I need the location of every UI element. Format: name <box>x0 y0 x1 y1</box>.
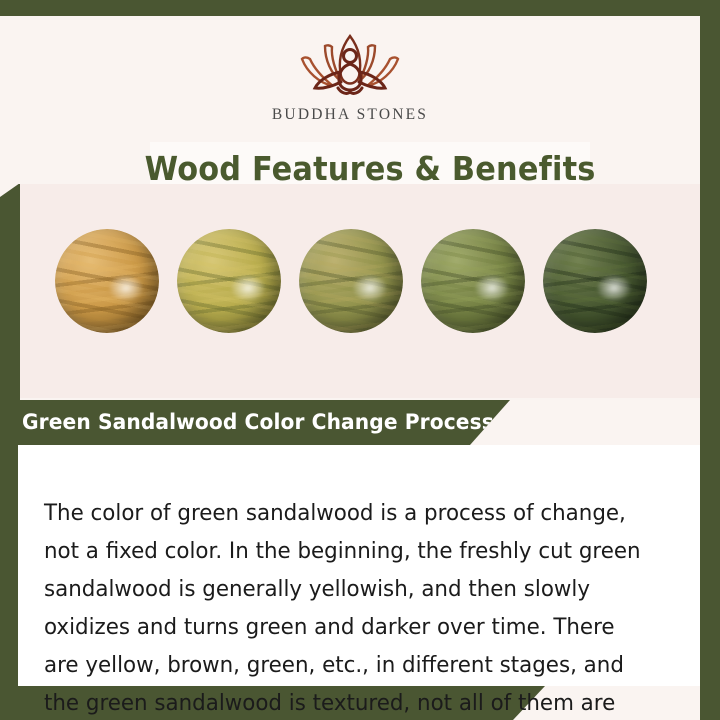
header-section: BUDDHA STONES Wood Features & Benefits <box>0 16 700 184</box>
bead-shading <box>55 229 159 333</box>
body-text-panel: The color of green sandalwood is a proce… <box>18 445 700 686</box>
lotus-meditation-icon <box>275 26 425 104</box>
bead-shading <box>421 229 525 333</box>
bead-stage-5 <box>543 229 647 333</box>
bead-stage-1 <box>55 229 159 333</box>
poster-root: BUDDHA STONES Wood Features & Benefits G… <box>0 0 720 720</box>
bead-stage-3 <box>299 229 403 333</box>
section-banner-title: Green Sandalwood Color Change Process <box>22 410 494 435</box>
bead-shading <box>299 229 403 333</box>
section-banner: Green Sandalwood Color Change Process <box>0 400 560 445</box>
page-title: Wood Features & Benefits <box>145 149 596 188</box>
frame-right-band <box>700 0 720 720</box>
bead-shading <box>177 229 281 333</box>
body-paragraph: The color of green sandalwood is a proce… <box>44 494 652 720</box>
bead-row <box>20 184 700 398</box>
bead-showcase <box>20 184 700 398</box>
brand-logo: BUDDHA STONES <box>0 26 700 124</box>
bead-stage-4 <box>421 229 525 333</box>
brand-name: BUDDHA STONES <box>0 106 700 124</box>
bead-shading <box>543 229 647 333</box>
bead-stage-2 <box>177 229 281 333</box>
frame-left-band <box>0 183 20 720</box>
frame-top-band <box>0 0 720 16</box>
